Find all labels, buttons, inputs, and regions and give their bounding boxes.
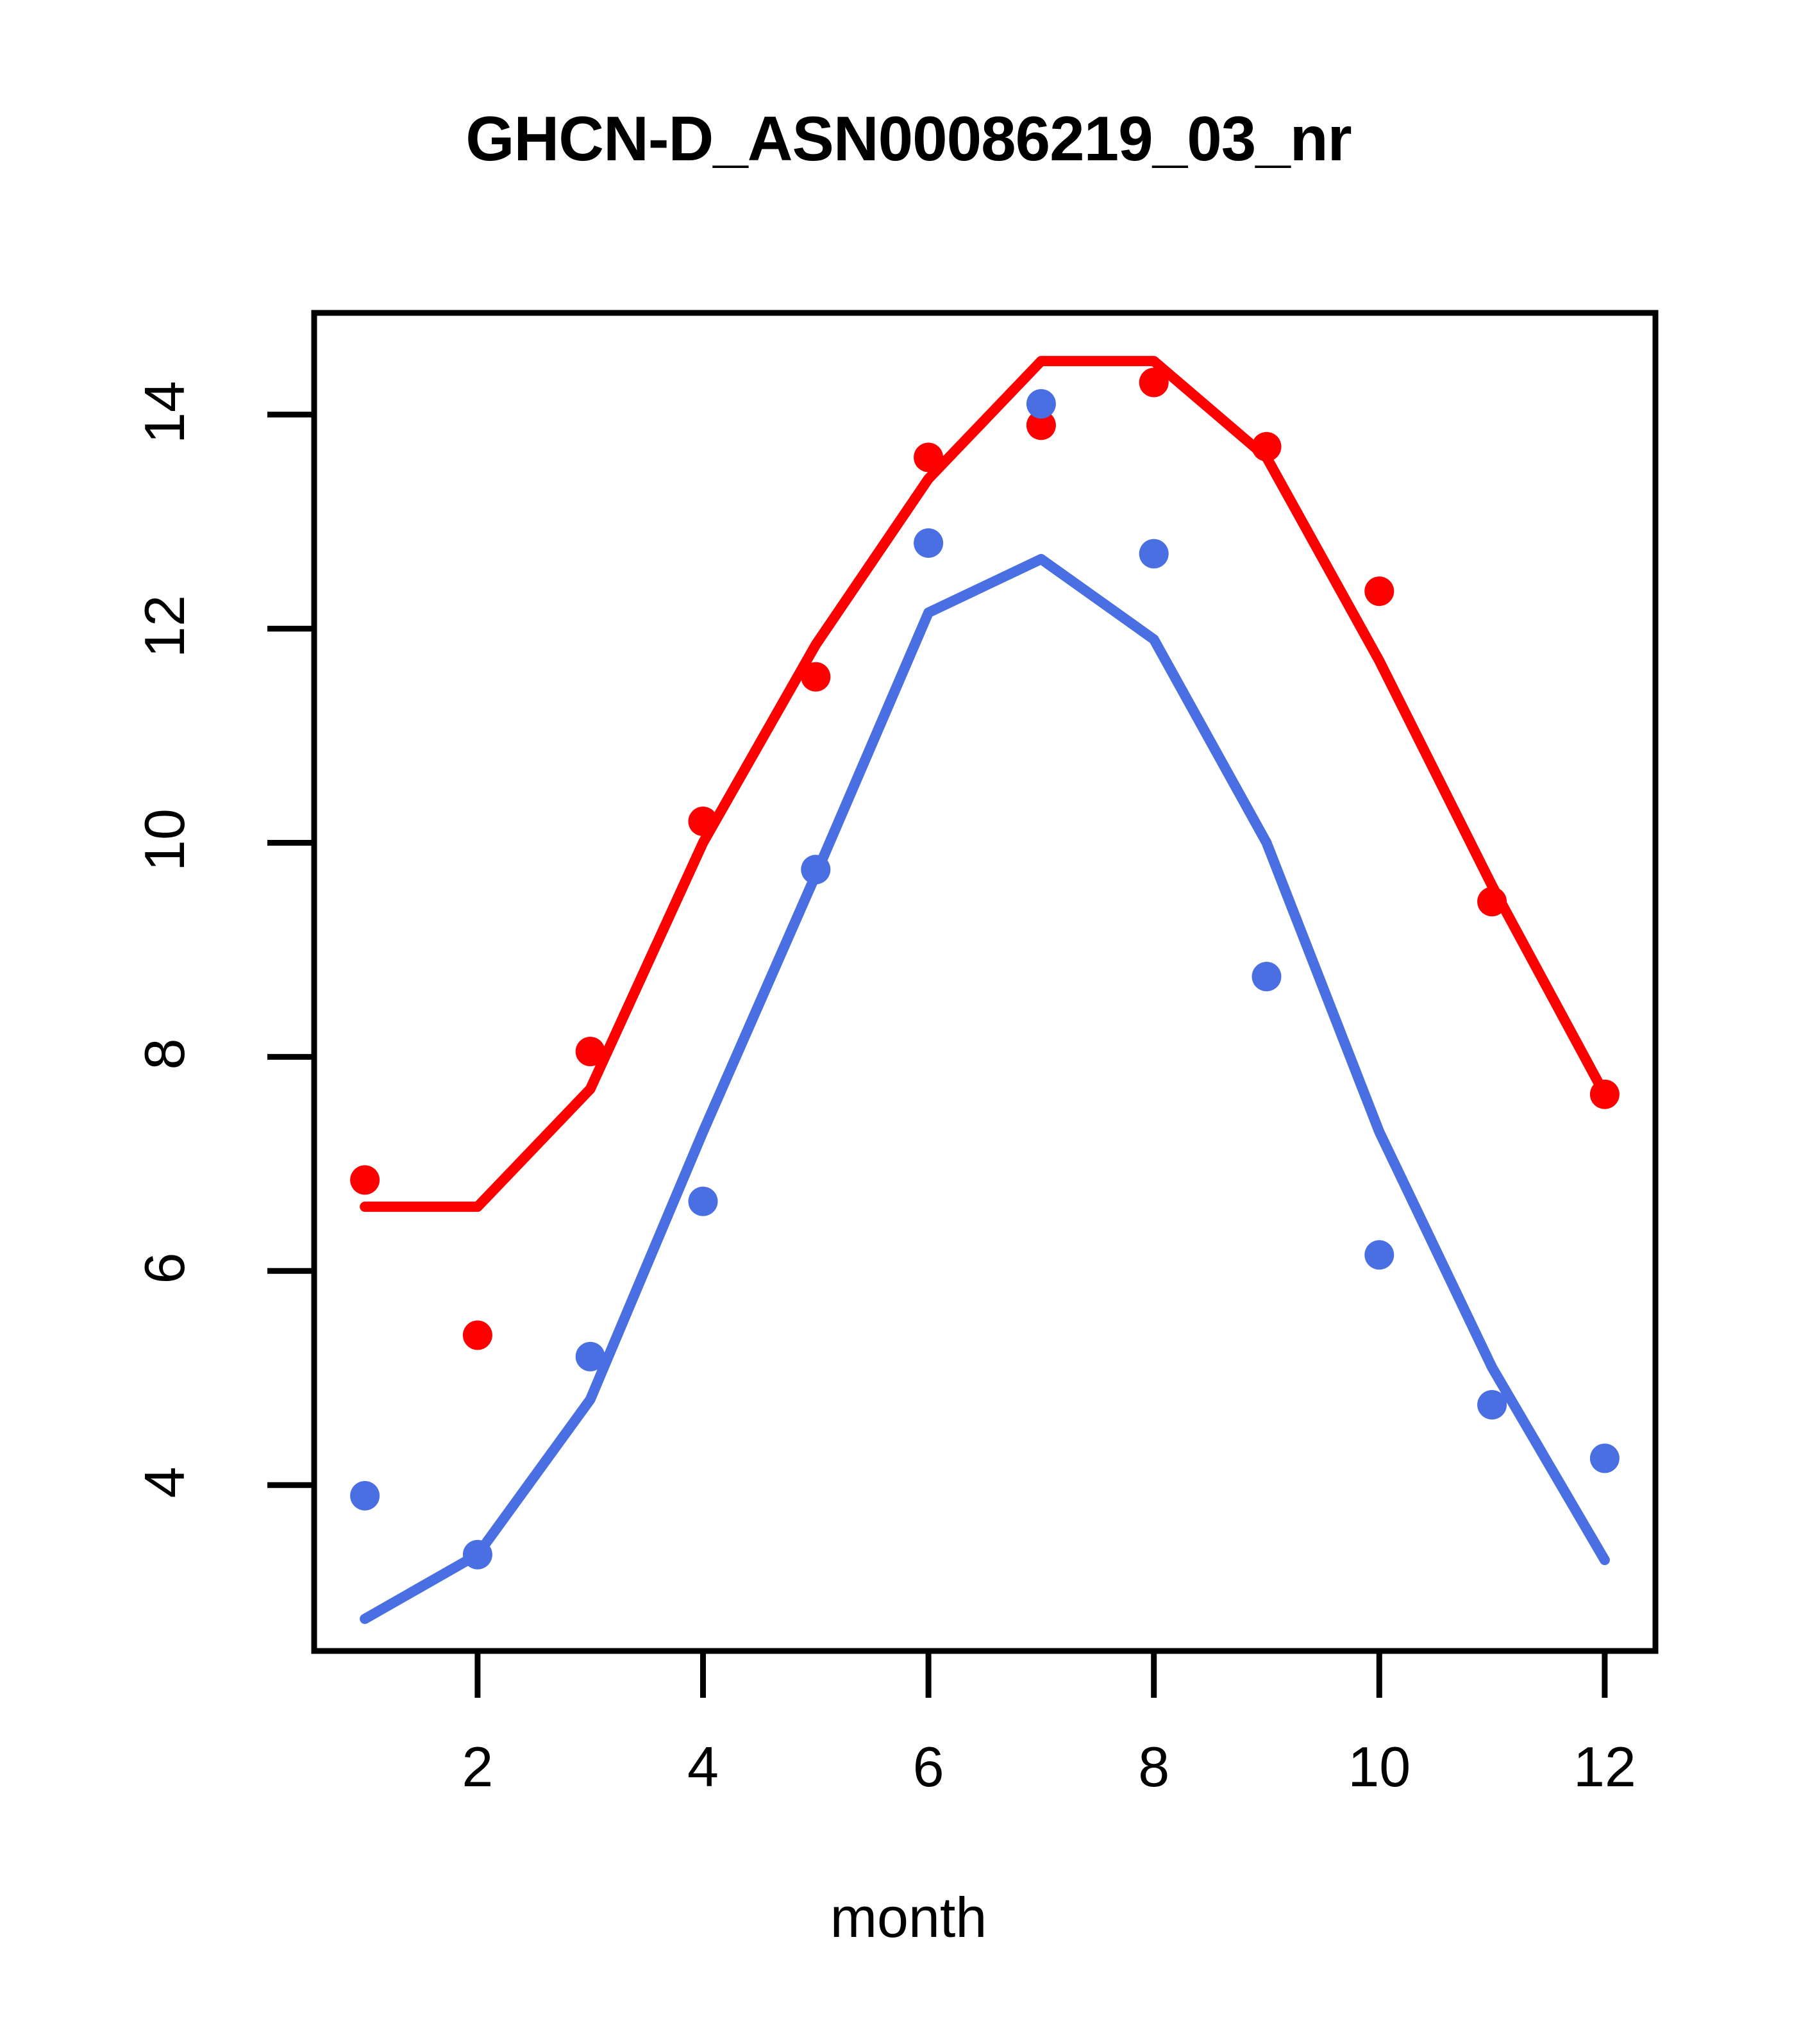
plot-root: GHCN-D_ASN00086219_03_nr 24681012 468101… [0,0,1817,2044]
data-point-red-points [1590,1080,1620,1109]
x-tick-label: 12 [1541,1734,1669,1800]
data-point-blue-points [576,1342,605,1371]
x-tick-label: 4 [639,1734,767,1800]
data-point-blue-points [463,1540,492,1570]
y-tick-label: 12 [132,562,197,691]
y-tick-label: 6 [132,1204,197,1332]
data-point-blue-points [801,855,830,884]
data-point-red-points [463,1320,492,1350]
data-point-red-points [689,807,718,836]
x-tick-label: 8 [1090,1734,1218,1800]
data-point-blue-points [1252,962,1281,991]
series-line-red-line [365,361,1605,1207]
series-line-blue-line [365,559,1605,1619]
x-tick-label: 10 [1315,1734,1443,1800]
data-point-red-points [1477,887,1507,916]
y-tick-label: 8 [132,990,197,1118]
x-tick-label: 6 [864,1734,992,1800]
data-point-red-points [1252,432,1281,462]
data-point-blue-points [689,1187,718,1216]
data-point-blue-points [1590,1443,1620,1473]
plot-frame [314,313,1655,1651]
y-tick-label: 4 [132,1418,197,1546]
data-point-red-points [801,662,830,692]
x-tick-label: 2 [414,1734,542,1800]
y-tick-label: 10 [132,776,197,904]
data-point-red-points [350,1165,380,1194]
data-point-blue-points [1477,1390,1507,1420]
data-point-blue-points [350,1481,380,1511]
data-point-blue-points [1026,389,1056,419]
series-group [350,361,1620,1619]
data-point-red-points [1364,576,1394,606]
data-point-blue-points [1139,539,1169,569]
data-point-red-points [914,442,943,472]
data-point-blue-points [1364,1240,1394,1269]
data-point-blue-points [914,528,943,558]
x-axis-title: month [0,1885,1817,1950]
y-tick-label: 14 [132,348,197,476]
data-point-red-points [576,1037,605,1066]
data-point-red-points [1139,368,1169,398]
